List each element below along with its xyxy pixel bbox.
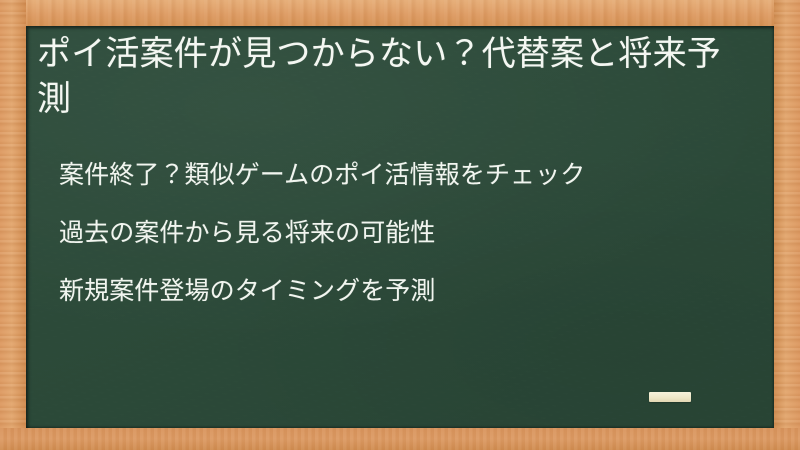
frame-rail-bottom	[0, 428, 800, 450]
board-content: ポイ活案件が見つからない？代替案と将来予測 案件終了？類似ゲームのポイ活情報をチ…	[26, 26, 774, 428]
chalkboard-graphic: ポイ活案件が見つからない？代替案と将来予測 案件終了？類似ゲームのポイ活情報をチ…	[0, 0, 800, 450]
frame-rail-right	[774, 0, 800, 450]
frame-rail-left	[0, 0, 26, 450]
frame-rail-top	[0, 0, 800, 26]
board-title: ポイ活案件が見つからない？代替案と将来予測	[37, 32, 737, 122]
list-item: 新規案件登場のタイミングを予測	[59, 276, 749, 306]
list-item: 過去の案件から見る将来の可能性	[59, 218, 749, 248]
board-topic-list: 案件終了？類似ゲームのポイ活情報をチェック 過去の案件から見る将来の可能性 新規…	[59, 160, 749, 306]
chalkboard-surface: ポイ活案件が見つからない？代替案と将来予測 案件終了？類似ゲームのポイ活情報をチ…	[26, 26, 774, 428]
chalk-stick-icon	[649, 392, 691, 402]
list-item: 案件終了？類似ゲームのポイ活情報をチェック	[59, 160, 749, 190]
